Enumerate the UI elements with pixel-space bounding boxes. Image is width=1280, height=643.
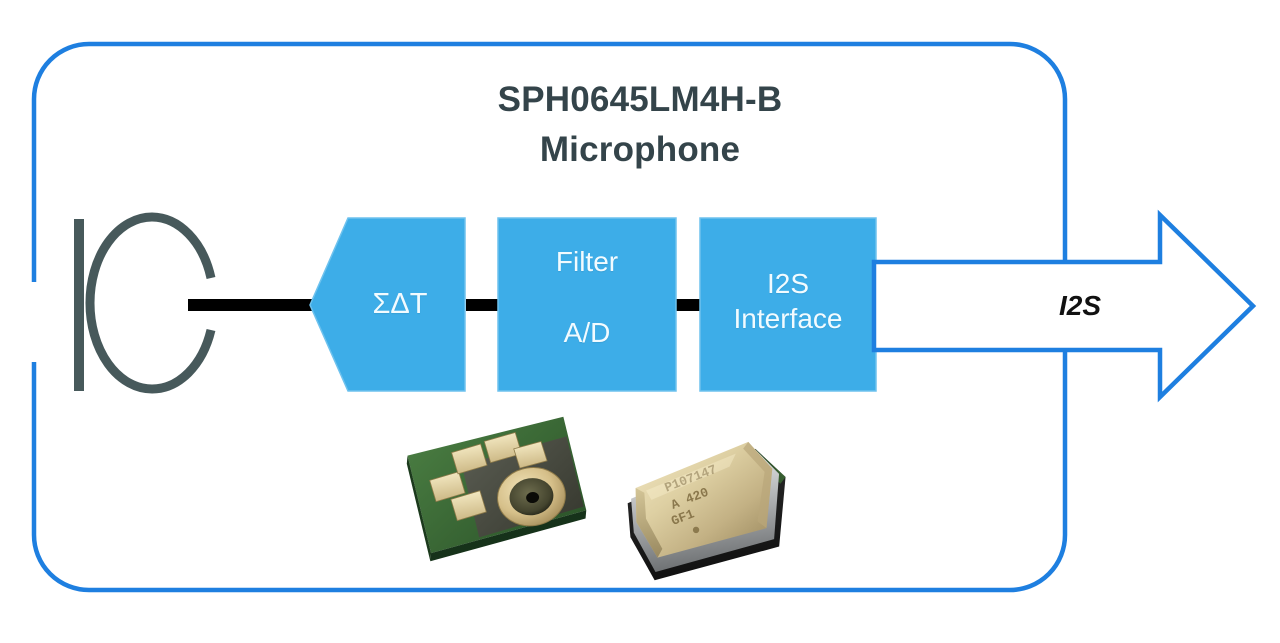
diagram-title-line2: Microphone — [0, 130, 1280, 170]
block-filter-adc[interactable] — [498, 218, 676, 391]
block-label-interface: Interface — [692, 303, 884, 335]
connector-mic-to-modulator — [188, 299, 314, 311]
block-label-filter: Filter — [498, 246, 676, 278]
diagram-title-line1: SPH0645LM4H-B — [0, 80, 1280, 120]
photo-mems-die-pcb — [403, 415, 590, 562]
output-arrow-label: I2S — [1000, 290, 1160, 322]
photo-metal-can-package: P107147 A 420 GF1 — [620, 437, 798, 582]
block-label-i2s: I2S — [700, 268, 876, 300]
block-label-ad: A/D — [498, 317, 676, 349]
diagram-canvas: P107147 A 420 GF1 SPH0645LM4H-B Micropho… — [0, 0, 1280, 643]
block-label-sigma-delta: ΣΔT — [330, 288, 470, 321]
connector-modulator-to-filter — [466, 299, 502, 311]
